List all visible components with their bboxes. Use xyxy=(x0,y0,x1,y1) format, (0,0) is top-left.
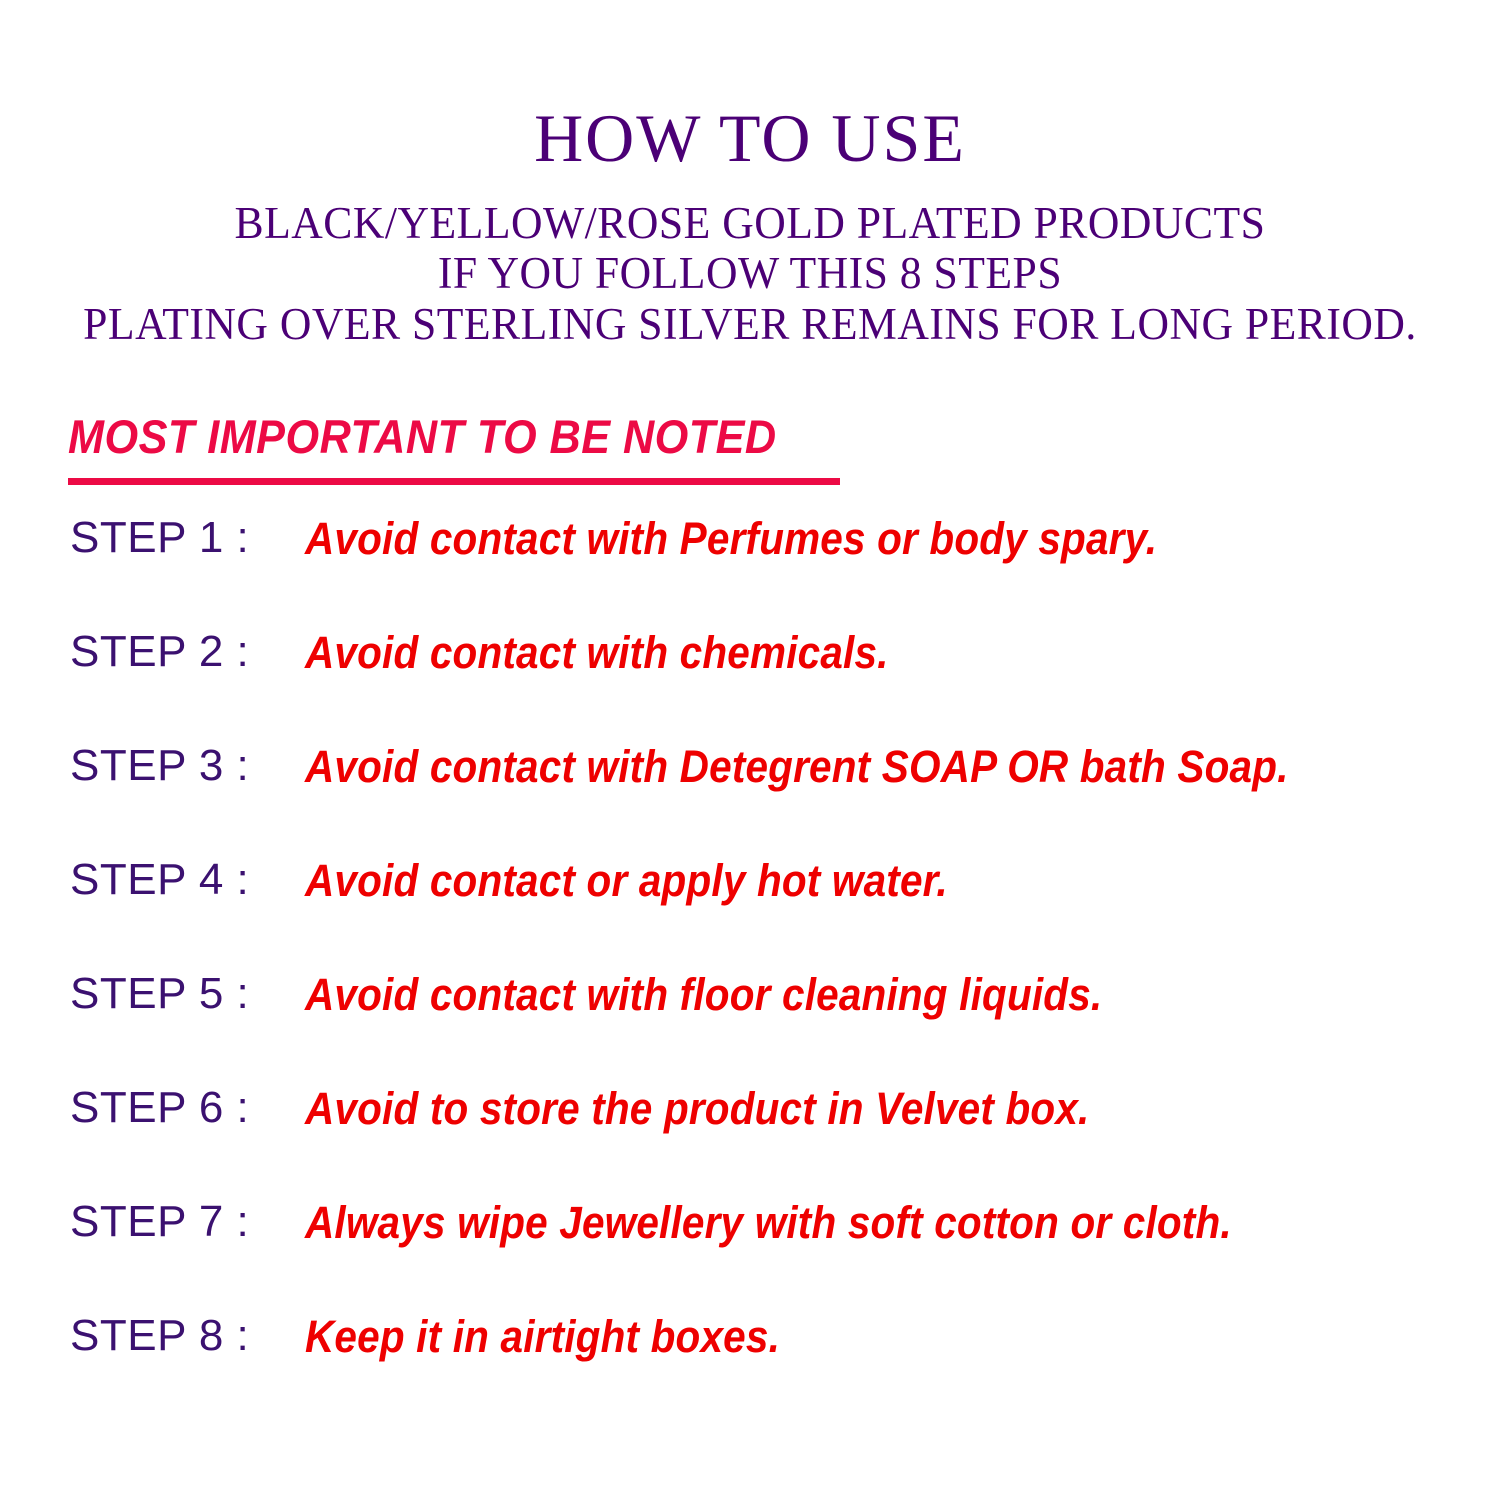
step-label-8: STEP 8 : xyxy=(70,1314,249,1358)
step-label-7: STEP 7 : xyxy=(70,1200,249,1244)
care-instructions-page: HOW TO USE BLACK/YELLOW/ROSE GOLD PLATED… xyxy=(0,0,1500,1500)
step-text-8: Keep it in airtight boxes. xyxy=(305,1314,780,1359)
step-text-6: Avoid to store the product in Velvet box… xyxy=(305,1086,1089,1131)
important-heading: MOST IMPORTANT TO BE NOTED xyxy=(68,412,777,465)
step-text-4: Avoid contact or apply hot water. xyxy=(305,858,948,903)
step-row-8: STEP 8 : Keep it in airtight boxes. xyxy=(0,1314,1500,1428)
step-row-7: STEP 7 : Always wipe Jewellery with soft… xyxy=(0,1200,1500,1314)
step-label-3: STEP 3 : xyxy=(70,744,249,788)
step-text-1: Avoid contact with Perfumes or body spar… xyxy=(305,516,1157,561)
subtitle-line-1: BLACK/YELLOW/ROSE GOLD PLATED PRODUCTS xyxy=(23,198,1478,248)
page-title: HOW TO USE xyxy=(0,0,1500,172)
step-row-2: STEP 2 : Avoid contact with chemicals. xyxy=(0,630,1500,744)
important-notice-block: MOST IMPORTANT TO BE NOTED xyxy=(68,412,838,465)
step-text-3: Avoid contact with Detegrent SOAP OR bat… xyxy=(305,744,1289,789)
step-text-5: Avoid contact with floor cleaning liquid… xyxy=(305,972,1102,1017)
step-row-3: STEP 3 : Avoid contact with Detegrent SO… xyxy=(0,744,1500,858)
step-row-4: STEP 4 : Avoid contact or apply hot wate… xyxy=(0,858,1500,972)
important-heading-underline xyxy=(68,478,840,485)
step-row-1: STEP 1 : Avoid contact with Perfumes or … xyxy=(0,516,1500,630)
step-label-1: STEP 1 : xyxy=(70,516,249,560)
subtitle-line-2: IF YOU FOLLOW THIS 8 STEPS xyxy=(23,248,1478,298)
step-text-2: Avoid contact with chemicals. xyxy=(305,630,889,675)
step-label-2: STEP 2 : xyxy=(70,630,249,674)
step-label-4: STEP 4 : xyxy=(70,858,249,902)
step-label-6: STEP 6 : xyxy=(70,1086,249,1130)
step-text-7: Always wipe Jewellery with soft cotton o… xyxy=(305,1200,1232,1245)
subtitle-block: BLACK/YELLOW/ROSE GOLD PLATED PRODUCTS I… xyxy=(0,198,1500,349)
subtitle-line-3: PLATING OVER STERLING SILVER REMAINS FOR… xyxy=(23,299,1478,349)
step-label-5: STEP 5 : xyxy=(70,972,249,1016)
step-row-5: STEP 5 : Avoid contact with floor cleani… xyxy=(0,972,1500,1086)
steps-list: STEP 1 : Avoid contact with Perfumes or … xyxy=(0,516,1500,1428)
header-block: HOW TO USE BLACK/YELLOW/ROSE GOLD PLATED… xyxy=(0,0,1500,349)
step-row-6: STEP 6 : Avoid to store the product in V… xyxy=(0,1086,1500,1200)
